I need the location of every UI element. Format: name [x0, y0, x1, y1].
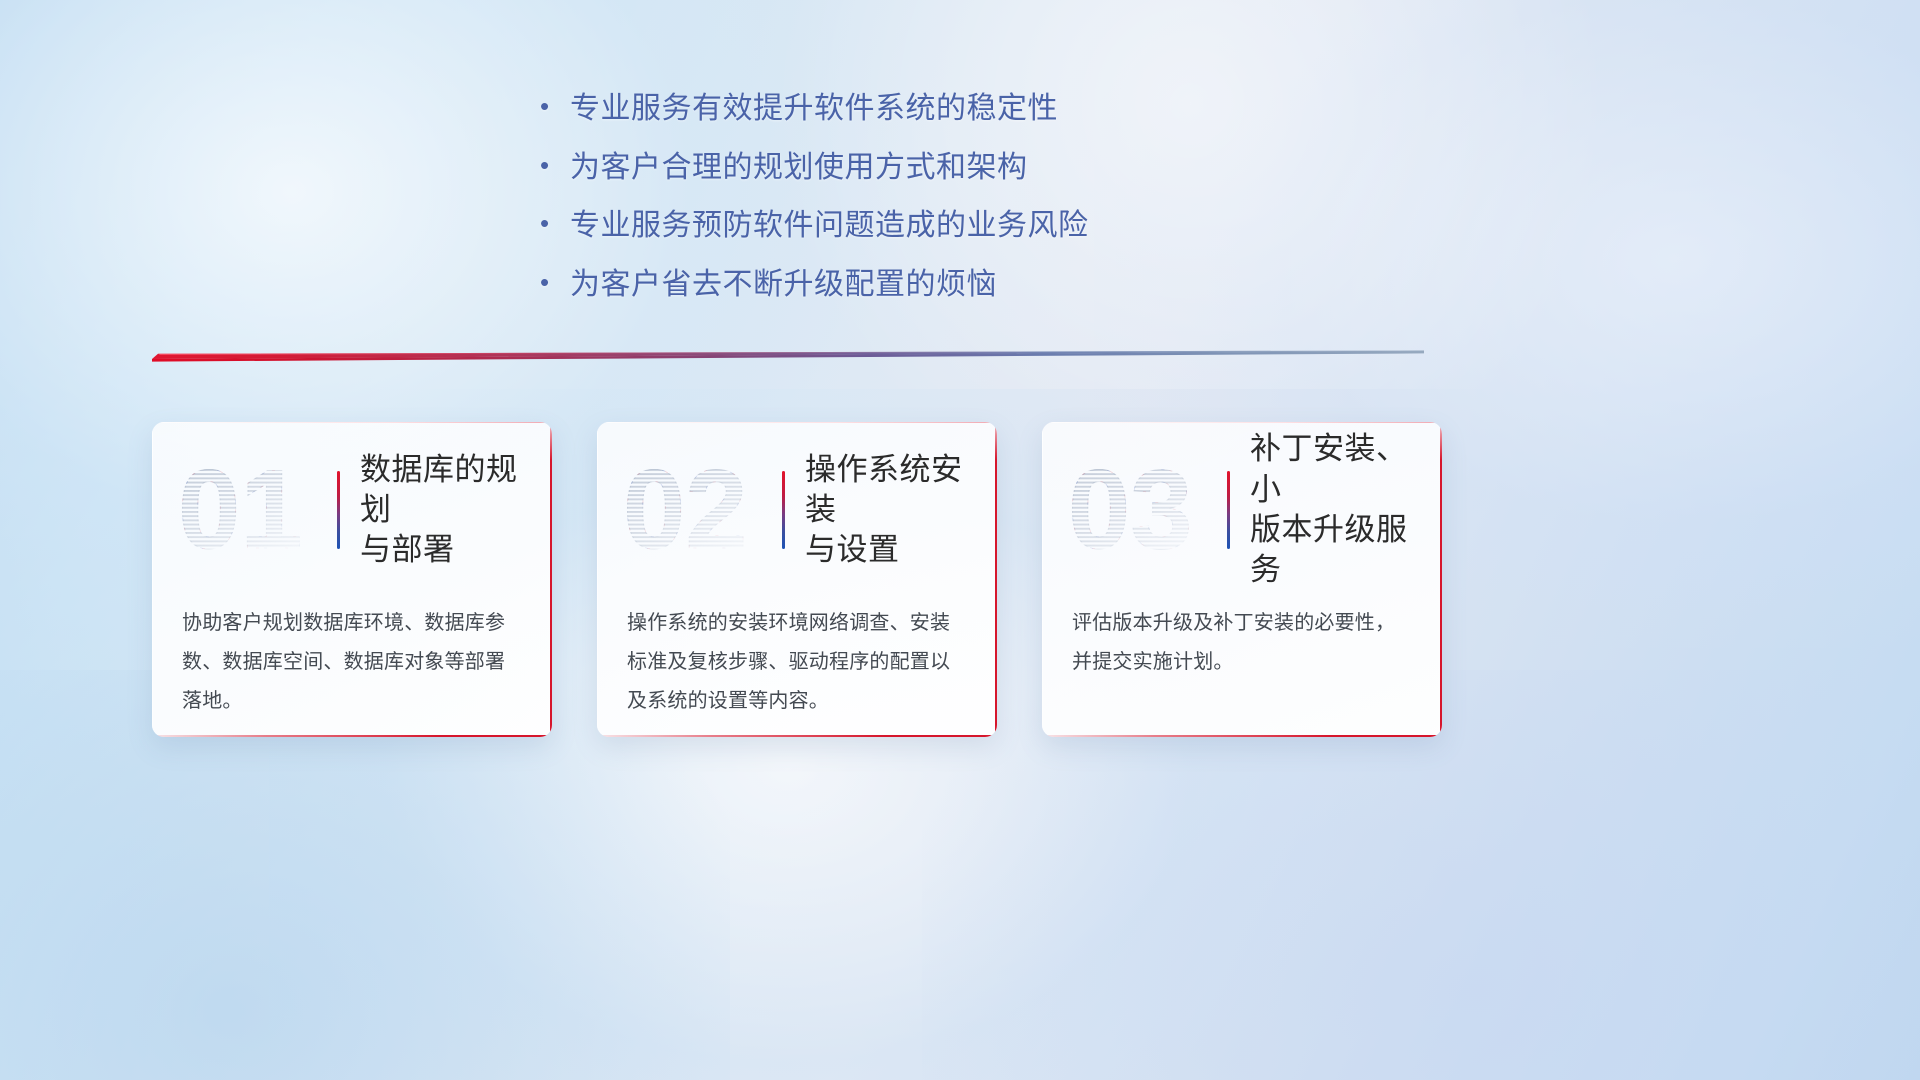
- card-02[interactable]: 02 02 02 操作系统安装 与设置 操作系统的安装环境网络调查、安装标准及复…: [597, 422, 997, 737]
- divider-wedge: [152, 346, 1424, 362]
- bullet-item: • 为客户合理的规划使用方式和架构: [540, 149, 1240, 187]
- card-accent-bottom: [1042, 735, 1442, 738]
- bullet-list: • 专业服务有效提升软件系统的稳定性 • 为客户合理的规划使用方式和架构 • 专…: [540, 90, 1240, 324]
- svg-text:03: 03: [1068, 448, 1193, 572]
- bullet-text: 专业服务有效提升软件系统的稳定性: [570, 90, 1240, 128]
- card-title-bar: [1227, 471, 1230, 549]
- card-top-edge: [152, 422, 552, 423]
- card-top-edge: [1042, 422, 1442, 423]
- card-title-line2: 与设置: [805, 530, 979, 570]
- bullet-text: 为客户省去不断升级配置的烦恼: [570, 266, 1240, 304]
- bullet-dot-icon: •: [540, 269, 570, 295]
- bullet-text: 为客户合理的规划使用方式和架构: [570, 149, 1240, 187]
- card-accent-bottom: [152, 735, 552, 738]
- svg-text:01: 01: [178, 448, 303, 572]
- card-title: 数据库的规划 与部署: [360, 450, 552, 571]
- card-header: 03 03 03 补丁安装、小 版本升级服务: [1042, 440, 1442, 580]
- card-title-line2: 与部署: [360, 530, 534, 570]
- card-title-bar: [782, 471, 785, 549]
- card-title-line1: 补丁安装、小: [1250, 429, 1424, 510]
- card-title: 操作系统安装 与设置: [805, 450, 997, 571]
- card-description: 评估版本升级及补丁安装的必要性，并提交实施计划。: [1072, 604, 1414, 682]
- card-header: 01 01 01 数据库的规划 与部署: [152, 440, 552, 580]
- card-accent-bottom: [597, 735, 997, 738]
- card-title-bar: [337, 471, 340, 549]
- card-title: 补丁安装、小 版本升级服务: [1250, 429, 1442, 590]
- card-header: 02 02 02 操作系统安装 与设置: [597, 440, 997, 580]
- bullet-item: • 专业服务有效提升软件系统的稳定性: [540, 90, 1240, 128]
- card-title-line2: 版本升级服务: [1250, 510, 1424, 591]
- card-03[interactable]: 03 03 03 补丁安装、小 版本升级服务 评估版本升级及补丁安装的必要性，并…: [1042, 422, 1442, 737]
- bullet-dot-icon: •: [540, 210, 570, 236]
- card-title-line1: 数据库的规划: [360, 450, 534, 531]
- card-01[interactable]: 01 01 01 数据库的规划 与部署 协助客户规划数据库环境、数据库参数、数据…: [152, 422, 552, 737]
- card-title-line1: 操作系统安装: [805, 450, 979, 531]
- card-number-01: 01 01 01: [176, 448, 331, 573]
- card-list: 01 01 01 数据库的规划 与部署 协助客户规划数据库环境、数据库参数、数据…: [152, 422, 1442, 742]
- bullet-dot-icon: •: [540, 93, 570, 119]
- card-description: 协助客户规划数据库环境、数据库参数、数据库空间、数据库对象等部署落地。: [182, 604, 524, 721]
- card-description: 操作系统的安装环境网络调查、安装标准及复核步骤、驱动程序的配置以及系统的设置等内…: [627, 604, 969, 721]
- bullet-item: • 为客户省去不断升级配置的烦恼: [540, 266, 1240, 304]
- card-number-02: 02 02 02: [621, 448, 776, 573]
- bullet-dot-icon: •: [540, 152, 570, 178]
- bullet-text: 专业服务预防软件问题造成的业务风险: [570, 207, 1240, 245]
- card-top-edge: [597, 422, 997, 423]
- card-number-03: 03 03 03: [1066, 448, 1221, 573]
- bullet-item: • 专业服务预防软件问题造成的业务风险: [540, 207, 1240, 245]
- svg-text:02: 02: [623, 448, 748, 572]
